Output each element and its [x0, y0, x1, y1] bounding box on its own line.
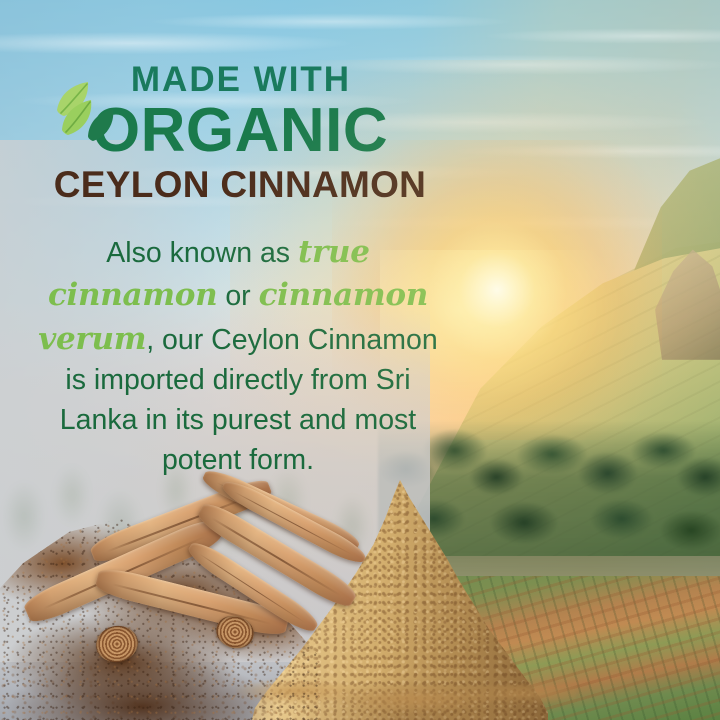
copy-block: MADE WITH ORGANIC CEYLON CINNAMON Also k… [0, 0, 470, 481]
body-paragraph: Also known as true cinnamon or cinnamon … [0, 231, 470, 481]
headline-made-with: MADE WITH [0, 62, 470, 97]
body-text-part-2: or [217, 280, 258, 312]
cinnamon-sticks-group [0, 460, 560, 720]
headline-organic: ORGANIC [0, 99, 470, 162]
headline-group: MADE WITH ORGANIC CEYLON CINNAMON [0, 0, 470, 205]
organic-ceylon-cinnamon-banner: MADE WITH ORGANIC CEYLON CINNAMON Also k… [0, 0, 720, 720]
body-text-part-1: Also known as [106, 237, 298, 269]
headline-ceylon-cinnamon: CEYLON CINNAMON [0, 166, 470, 205]
